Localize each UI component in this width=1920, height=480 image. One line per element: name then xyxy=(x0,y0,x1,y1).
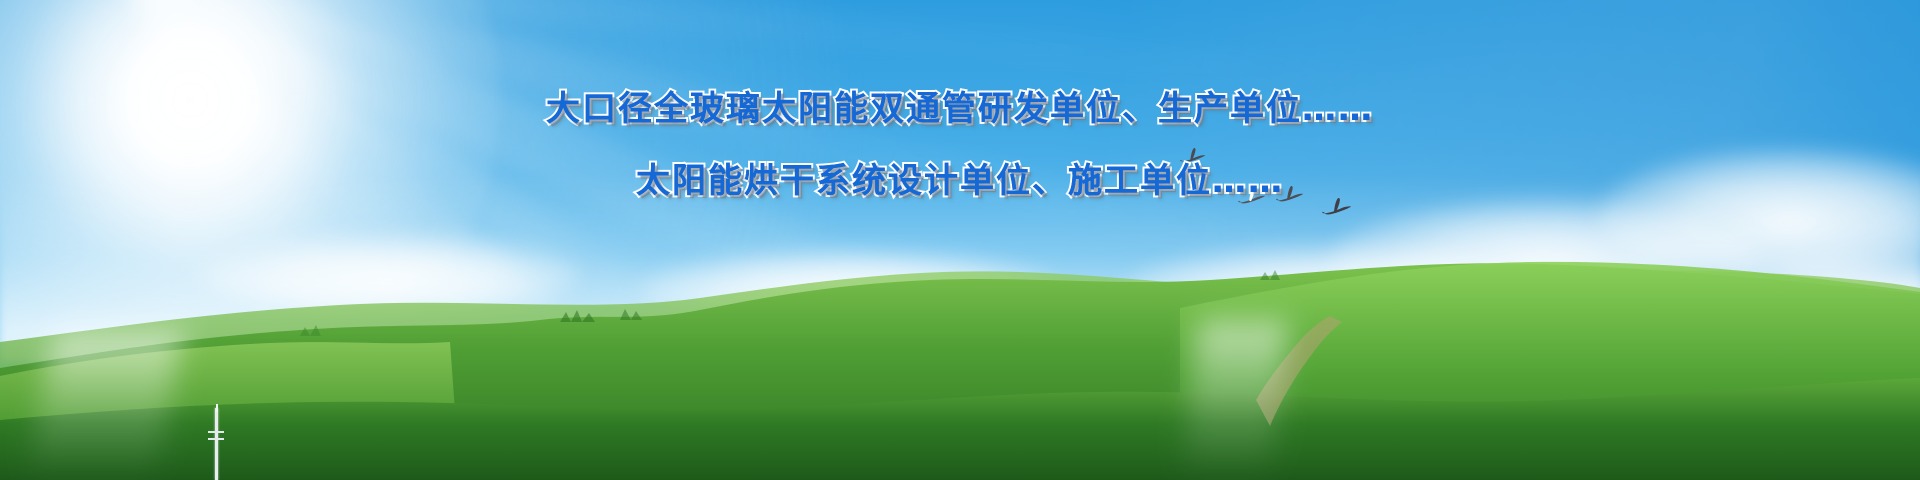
hero-banner: 大口径全玻璃太阳能双通管研发单位、生产单位…… 大口径全玻璃太阳能双通管研发单位… xyxy=(0,0,1920,480)
headline-line-1-wrap: 大口径全玻璃太阳能双通管研发单位、生产单位…… 大口径全玻璃太阳能双通管研发单位… xyxy=(0,92,1920,126)
headline-block: 大口径全玻璃太阳能双通管研发单位、生产单位…… 大口径全玻璃太阳能双通管研发单位… xyxy=(0,92,1920,198)
hill-light-shaft-right xyxy=(1182,320,1289,480)
bird-4-icon xyxy=(1322,198,1352,220)
headline-line-2-wrap: 太阳能烘干系统设计单位、施工单位…… 太阳能烘干系统设计单位、施工单位…… xyxy=(0,164,1920,198)
pole-mast xyxy=(215,408,218,480)
pole-crossarm-lower xyxy=(208,438,224,440)
hill-light-shaft-left xyxy=(27,330,183,480)
green-hills xyxy=(0,250,1920,480)
utility-pole xyxy=(208,408,224,480)
pole-crossarm-upper xyxy=(208,431,224,433)
headline-line-1: 大口径全玻璃太阳能双通管研发单位、生产单位…… xyxy=(0,92,1920,126)
pole-tip xyxy=(216,404,218,412)
headline-line-2: 太阳能烘干系统设计单位、施工单位…… xyxy=(0,164,1920,198)
